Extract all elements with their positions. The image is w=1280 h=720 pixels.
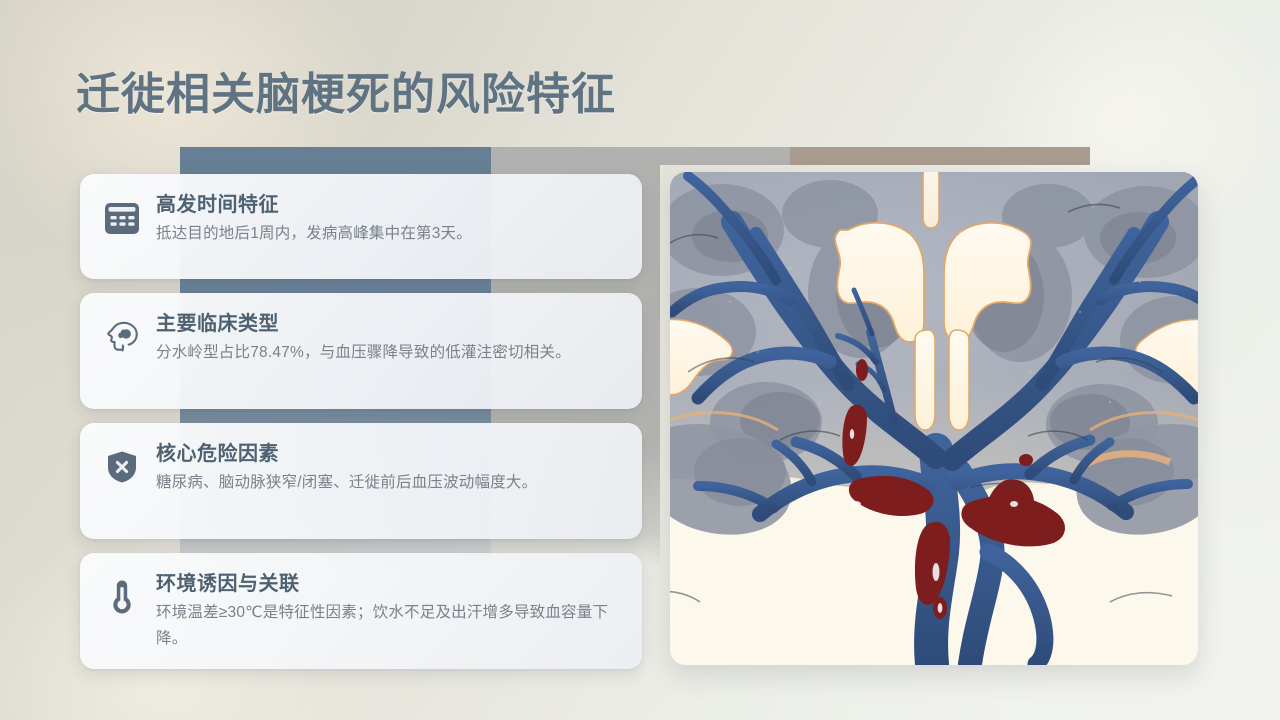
decorative-band-tan bbox=[790, 147, 1090, 165]
feature-card-clinical-type[interactable]: 主要临床类型 分水岭型占比78.47%，与血压骤降导致的低灌注密切相关。 bbox=[80, 293, 642, 409]
feature-card-body: 核心危险因素 糖尿病、脑动脉狭窄/闭塞、迁徙前后血压波动幅度大。 bbox=[156, 439, 620, 496]
feature-card-title: 环境诱因与关联 bbox=[156, 571, 620, 597]
feature-card-desc: 分水岭型占比78.47%，与血压骤降导致的低灌注密切相关。 bbox=[156, 340, 620, 366]
decorative-band-blue bbox=[180, 147, 491, 165]
feature-card-desc: 环境温差≥30℃是特征性因素；饮水不足及出汗增多导致血容量下降。 bbox=[156, 600, 620, 651]
feature-card-desc: 抵达目的地后1周内，发病高峰集中在第3天。 bbox=[156, 221, 620, 247]
feature-card-list: 高发时间特征 抵达目的地后1周内，发病高峰集中在第3天。 主要临床类型 分水岭型… bbox=[80, 174, 642, 683]
head-brain-icon bbox=[100, 315, 144, 359]
feature-card-title: 主要临床类型 bbox=[156, 311, 620, 337]
feature-card-body: 高发时间特征 抵达目的地后1周内，发病高峰集中在第3天。 bbox=[156, 190, 620, 247]
feature-card-desc: 糖尿病、脑动脉狭窄/闭塞、迁徙前后血压波动幅度大。 bbox=[156, 470, 620, 496]
calendar-icon bbox=[100, 196, 144, 240]
feature-card-title: 核心危险因素 bbox=[156, 441, 620, 467]
brain-vasculature-illustration bbox=[670, 172, 1198, 665]
feature-card-high-incidence-time[interactable]: 高发时间特征 抵达目的地后1周内，发病高峰集中在第3天。 bbox=[80, 174, 642, 279]
shield-x-icon bbox=[100, 445, 144, 489]
page-title: 迁徙相关脑梗死的风险特征 bbox=[76, 70, 616, 121]
feature-card-environment[interactable]: 环境诱因与关联 环境温差≥30℃是特征性因素；饮水不足及出汗增多导致血容量下降。 bbox=[80, 553, 642, 669]
feature-card-body: 主要临床类型 分水岭型占比78.47%，与血压骤降导致的低灌注密切相关。 bbox=[156, 309, 620, 366]
thermometer-icon bbox=[100, 575, 144, 619]
slide-root: 迁徙相关脑梗死的风险特征 bbox=[0, 0, 1280, 720]
feature-card-body: 环境诱因与关联 环境温差≥30℃是特征性因素；饮水不足及出汗增多导致血容量下降。 bbox=[156, 569, 620, 651]
feature-card-title: 高发时间特征 bbox=[156, 192, 620, 218]
decorative-band-gray bbox=[491, 147, 790, 165]
feature-card-risk-factors[interactable]: 核心危险因素 糖尿病、脑动脉狭窄/闭塞、迁徙前后血压波动幅度大。 bbox=[80, 423, 642, 539]
